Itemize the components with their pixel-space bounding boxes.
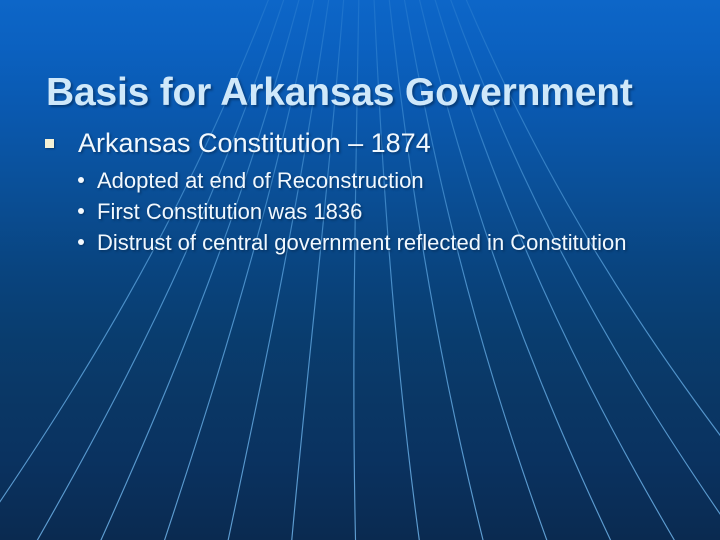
square-bullet-marker <box>45 139 54 148</box>
list-item-level2-label: Adopted at end of Reconstruction <box>97 168 424 193</box>
round-bullet-marker <box>78 208 84 214</box>
slide-content: Basis for Arkansas Government Arkansas C… <box>0 0 720 540</box>
page-title: Basis for Arkansas Government <box>46 70 686 116</box>
list-item-level2: Distrust of central government reflected… <box>0 227 720 258</box>
list-item-level1: Arkansas Constitution – 1874 <box>0 126 720 160</box>
slide-body-list: Arkansas Constitution – 1874 Adopted at … <box>0 126 720 258</box>
round-bullet-marker <box>78 239 84 245</box>
round-bullet-marker <box>78 177 84 183</box>
list-item-level2-label: First Constitution was 1836 <box>97 199 362 224</box>
sub-bullet-list: Adopted at end of Reconstruction First C… <box>0 165 720 258</box>
list-item-level1-label: Arkansas Constitution – 1874 <box>78 128 431 158</box>
list-item-level2: Adopted at end of Reconstruction <box>0 165 720 196</box>
slide-canvas: Basis for Arkansas Government Arkansas C… <box>0 0 720 540</box>
list-item-level2: First Constitution was 1836 <box>0 196 720 227</box>
list-item-level2-label: Distrust of central government reflected… <box>97 230 626 255</box>
